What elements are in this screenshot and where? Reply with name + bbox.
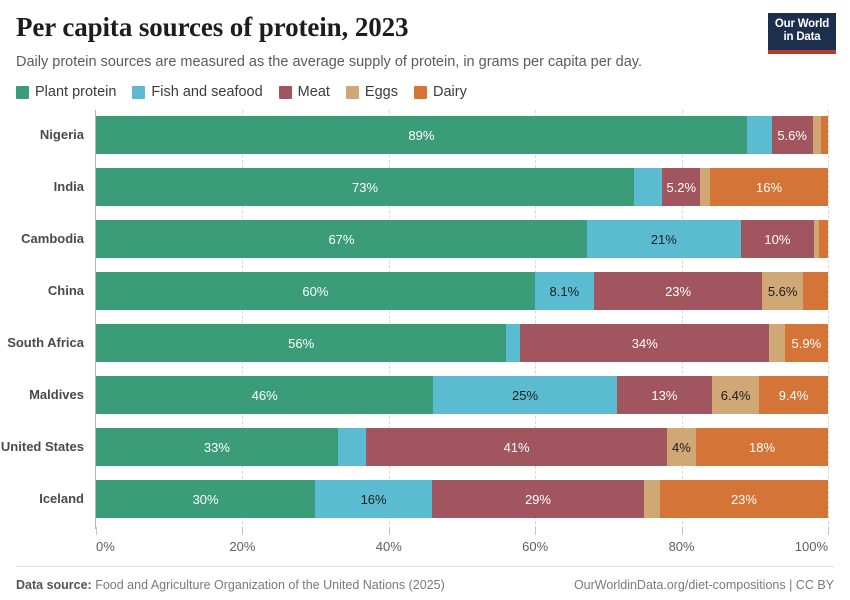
bar-segment-fish-and-seafood[interactable]: 25% bbox=[433, 376, 616, 414]
bar-segment-dairy[interactable] bbox=[819, 220, 828, 258]
bar-segment-plant-protein[interactable]: 67% bbox=[96, 220, 587, 258]
bar-segment-plant-protein[interactable]: 73% bbox=[96, 168, 634, 206]
logo-line-2: in Data bbox=[771, 31, 833, 44]
x-axis: 0%20%40%60%80%100% bbox=[96, 535, 828, 565]
bar-segment-value-label: 89% bbox=[408, 129, 434, 142]
bar-track: 60%8.1%23%5.6% bbox=[96, 272, 828, 310]
data-source: Data source: Food and Agriculture Organi… bbox=[16, 578, 445, 592]
data-source-label: Data source: bbox=[16, 578, 92, 592]
bar-segment-value-label: 23% bbox=[731, 493, 757, 506]
bar-row[interactable]: China60%8.1%23%5.6% bbox=[0, 272, 850, 310]
bar-segment-value-label: 8.1% bbox=[550, 285, 580, 298]
bar-row-label: Cambodia bbox=[0, 220, 84, 258]
bar-segment-value-label: 60% bbox=[302, 285, 328, 298]
bar-segment-value-label: 23% bbox=[665, 285, 691, 298]
bar-segment-value-label: 4% bbox=[672, 441, 691, 454]
bar-segment-meat[interactable]: 34% bbox=[520, 324, 769, 362]
bar-row[interactable]: India73%5.2%16% bbox=[0, 168, 850, 206]
bar-row[interactable]: Iceland30%16%29%23% bbox=[0, 480, 850, 518]
tick-mark bbox=[828, 527, 829, 535]
bar-segment-value-label: 13% bbox=[651, 389, 677, 402]
bar-segment-value-label: 5.6% bbox=[768, 285, 798, 298]
legend-item-label: Plant protein bbox=[35, 84, 116, 100]
bar-row-label: China bbox=[0, 272, 84, 310]
legend-swatch-icon bbox=[16, 86, 29, 99]
logo-line-1: Our World bbox=[771, 18, 833, 31]
logo-underline bbox=[768, 50, 836, 54]
bar-segment-value-label: 56% bbox=[288, 337, 314, 350]
x-axis-tick-label: 60% bbox=[522, 539, 548, 554]
bar-row-label: United States bbox=[0, 428, 84, 466]
bar-segment-dairy[interactable]: 23% bbox=[660, 480, 828, 518]
logo-box: Our World in Data bbox=[768, 13, 836, 50]
legend-swatch-icon bbox=[132, 86, 145, 99]
legend-item-plant-protein[interactable]: Plant protein bbox=[16, 84, 116, 100]
bar-row[interactable]: Cambodia67%21%10% bbox=[0, 220, 850, 258]
legend-swatch-icon bbox=[414, 86, 427, 99]
bar-segment-plant-protein[interactable]: 89% bbox=[96, 116, 747, 154]
bar-track: 30%16%29%23% bbox=[96, 480, 828, 518]
bar-segment-dairy[interactable]: 18% bbox=[696, 428, 828, 466]
bar-segment-meat[interactable]: 5.6% bbox=[772, 116, 813, 154]
bar-row-label: Maldives bbox=[0, 376, 84, 414]
bar-row[interactable]: South Africa56%34%5.9% bbox=[0, 324, 850, 362]
tick-mark bbox=[682, 527, 683, 535]
data-source-text: Food and Agriculture Organization of the… bbox=[95, 578, 445, 592]
bar-row-label: Iceland bbox=[0, 480, 84, 518]
x-axis-tick-label: 40% bbox=[376, 539, 402, 554]
bar-segment-meat[interactable]: 23% bbox=[594, 272, 762, 310]
legend-item-fish-and-seafood[interactable]: Fish and seafood bbox=[132, 84, 262, 100]
bar-segment-value-label: 25% bbox=[512, 389, 538, 402]
bar-segment-plant-protein[interactable]: 60% bbox=[96, 272, 535, 310]
bar-segment-fish-and-seafood[interactable] bbox=[634, 168, 662, 206]
chart-subtitle: Daily protein sources are measured as th… bbox=[16, 53, 834, 72]
x-axis-baseline bbox=[95, 535, 828, 536]
chart-header: Per capita sources of protein, 2023 Dail… bbox=[16, 12, 834, 72]
bar-segment-plant-protein[interactable]: 56% bbox=[96, 324, 506, 362]
bar-segment-dairy[interactable]: 9.4% bbox=[759, 376, 828, 414]
legend-item-dairy[interactable]: Dairy bbox=[414, 84, 467, 100]
bar-segment-value-label: 73% bbox=[352, 181, 378, 194]
legend-swatch-icon bbox=[346, 86, 359, 99]
legend-item-label: Dairy bbox=[433, 84, 467, 100]
bar-segment-plant-protein[interactable]: 46% bbox=[96, 376, 433, 414]
bar-segment-value-label: 10% bbox=[764, 233, 790, 246]
bar-segment-fish-and-seafood[interactable] bbox=[506, 324, 520, 362]
bar-segment-value-label: 34% bbox=[632, 337, 658, 350]
bar-segment-value-label: 33% bbox=[204, 441, 230, 454]
bar-segment-value-label: 41% bbox=[504, 441, 530, 454]
bar-segment-eggs[interactable]: 6.4% bbox=[712, 376, 759, 414]
x-axis-tick-label: 80% bbox=[669, 539, 695, 554]
bar-segment-value-label: 16% bbox=[361, 493, 387, 506]
bar-segment-plant-protein[interactable]: 30% bbox=[96, 480, 315, 518]
tick-mark bbox=[389, 527, 390, 535]
bar-track: 89%5.6% bbox=[96, 116, 828, 154]
tick-mark bbox=[242, 527, 243, 535]
legend-item-label: Fish and seafood bbox=[151, 84, 262, 100]
legend-item-label: Eggs bbox=[365, 84, 398, 100]
bar-segment-dairy[interactable]: 5.9% bbox=[785, 324, 828, 362]
bar-row[interactable]: United States33%41%4%18% bbox=[0, 428, 850, 466]
chart-legend: Plant proteinFish and seafoodMeatEggsDai… bbox=[16, 84, 467, 100]
x-axis-tick-label: 100% bbox=[795, 539, 828, 554]
our-world-in-data-logo[interactable]: Our World in Data bbox=[768, 13, 836, 54]
bar-track: 33%41%4%18% bbox=[96, 428, 828, 466]
bar-segment-meat[interactable]: 10% bbox=[741, 220, 814, 258]
bar-row[interactable]: Nigeria89%5.6% bbox=[0, 116, 850, 154]
chart-container: Per capita sources of protein, 2023 Dail… bbox=[0, 0, 850, 600]
legend-item-meat[interactable]: Meat bbox=[279, 84, 330, 100]
bar-segment-value-label: 18% bbox=[749, 441, 775, 454]
bar-segment-value-label: 46% bbox=[252, 389, 278, 402]
bar-track: 46%25%13%6.4%9.4% bbox=[96, 376, 828, 414]
bar-row[interactable]: Maldives46%25%13%6.4%9.4% bbox=[0, 376, 850, 414]
bar-segment-meat[interactable]: 41% bbox=[366, 428, 666, 466]
bar-segment-meat[interactable]: 13% bbox=[617, 376, 712, 414]
bar-segment-dairy[interactable] bbox=[821, 116, 828, 154]
bar-row-label: Nigeria bbox=[0, 116, 84, 154]
bar-segment-value-label: 29% bbox=[525, 493, 551, 506]
bar-segment-value-label: 9.4% bbox=[779, 389, 809, 402]
legend-item-label: Meat bbox=[298, 84, 330, 100]
bar-segment-eggs[interactable]: 4% bbox=[667, 428, 696, 466]
bar-segment-value-label: 6.4% bbox=[721, 389, 751, 402]
bar-segment-eggs[interactable] bbox=[769, 324, 784, 362]
legend-item-eggs[interactable]: Eggs bbox=[346, 84, 398, 100]
legend-swatch-icon bbox=[279, 86, 292, 99]
bar-segment-fish-and-seafood[interactable]: 21% bbox=[587, 220, 741, 258]
bar-segment-value-label: 5.9% bbox=[792, 337, 822, 350]
bar-track: 73%5.2%16% bbox=[96, 168, 828, 206]
bar-row-label: India bbox=[0, 168, 84, 206]
chart-footer: Data source: Food and Agriculture Organi… bbox=[16, 566, 834, 597]
bar-segment-eggs[interactable] bbox=[813, 116, 822, 154]
bar-segment-meat[interactable]: 5.2% bbox=[662, 168, 700, 206]
x-axis-tick-label: 0% bbox=[96, 539, 115, 554]
bar-segment-value-label: 16% bbox=[756, 181, 782, 194]
x-axis-tick-label: 20% bbox=[229, 539, 255, 554]
bar-segment-fish-and-seafood[interactable]: 16% bbox=[315, 480, 432, 518]
page-title: Per capita sources of protein, 2023 bbox=[16, 12, 834, 43]
bar-row-label: South Africa bbox=[0, 324, 84, 362]
bar-track: 67%21%10% bbox=[96, 220, 828, 258]
bar-segment-value-label: 30% bbox=[193, 493, 219, 506]
bar-segment-fish-and-seafood[interactable] bbox=[747, 116, 772, 154]
bar-segment-meat[interactable]: 29% bbox=[432, 480, 644, 518]
bar-segment-value-label: 67% bbox=[328, 233, 354, 246]
bar-segment-eggs[interactable]: 5.6% bbox=[762, 272, 803, 310]
bar-segment-value-label: 21% bbox=[651, 233, 677, 246]
bar-segment-dairy[interactable]: 16% bbox=[710, 168, 828, 206]
bar-segment-eggs[interactable] bbox=[700, 168, 710, 206]
bar-segment-eggs[interactable] bbox=[644, 480, 660, 518]
bar-segment-fish-and-seafood[interactable]: 8.1% bbox=[535, 272, 594, 310]
bar-segment-fish-and-seafood[interactable] bbox=[338, 428, 367, 466]
bar-segment-dairy[interactable] bbox=[803, 272, 828, 310]
bar-segment-plant-protein[interactable]: 33% bbox=[96, 428, 338, 466]
tick-mark bbox=[535, 527, 536, 535]
bar-segment-value-label: 5.2% bbox=[666, 181, 696, 194]
bar-track: 56%34%5.9% bbox=[96, 324, 828, 362]
bar-segment-value-label: 5.6% bbox=[777, 129, 807, 142]
plot-area: Nigeria89%5.6%India73%5.2%16%Cambodia67%… bbox=[0, 110, 850, 535]
tick-mark bbox=[96, 527, 97, 535]
attribution-link[interactable]: OurWorldinData.org/diet-compositions | C… bbox=[574, 578, 834, 592]
